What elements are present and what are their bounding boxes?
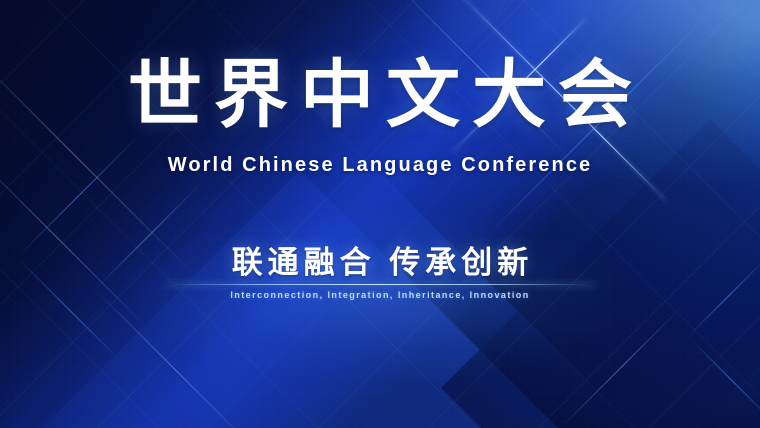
page-title-chinese: 世界中文大会	[116, 58, 644, 132]
page-title-english: World Chinese Language Conference	[168, 154, 593, 177]
tagline-english: Interconnection, Integration, Inheritanc…	[230, 290, 529, 300]
poster-content: 世界中文大会 World Chinese Language Conference…	[0, 0, 760, 428]
tagline-chinese: 联通融合 传承创新	[227, 246, 534, 281]
conference-poster: 世界中文大会 World Chinese Language Conference…	[0, 0, 760, 428]
tagline-block: 联通融合 传承创新 Interconnection, Integration, …	[0, 246, 760, 300]
tagline-divider	[165, 284, 595, 285]
